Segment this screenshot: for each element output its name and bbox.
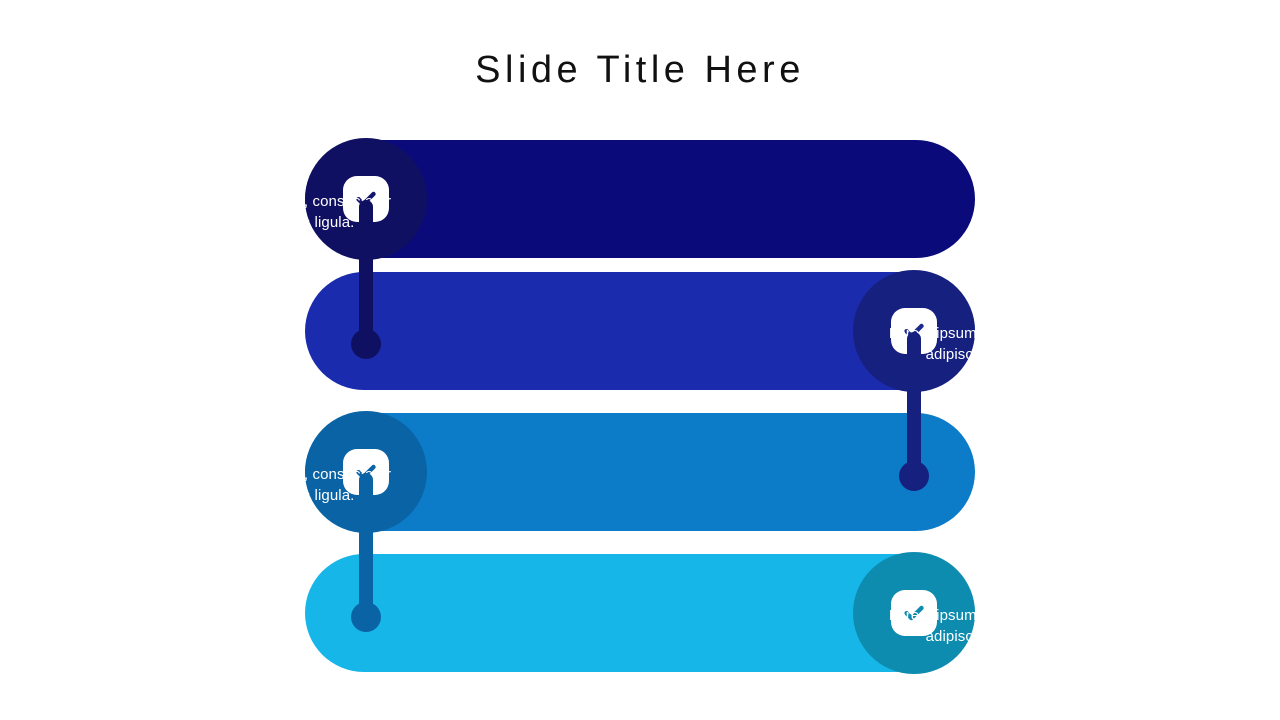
connector-1-stem <box>359 200 373 345</box>
row-4-desc-line-1: Lorem ipsum dolor amet, consectetur <box>720 605 1140 626</box>
row-2-title: Insert title here <box>720 297 1140 321</box>
connector-3 <box>359 473 373 618</box>
connector-2-knob <box>899 461 929 491</box>
connector-1-knob <box>351 329 381 359</box>
page-title: Slide Title Here <box>0 44 1280 96</box>
row-1-desc-line-1: Lorem ipsum dolor amet, consectetur <box>140 191 560 212</box>
row-3-desc-line-1: Lorem ipsum dolor amet, consectetur <box>140 464 560 485</box>
row-2-text: Insert title here Lorem ipsum dolor amet… <box>720 297 1140 365</box>
row-3-text: Insert title here Lorem ipsum dolor amet… <box>140 438 560 506</box>
row-4-desc-line-2: adipiscing elit roin cursus ligula. <box>720 626 1140 647</box>
infographic-rows: Insert title here Lorem ipsum dolor amet… <box>0 140 1280 670</box>
connector-2-stem <box>907 332 921 477</box>
connector-3-stem <box>359 473 373 618</box>
connector-3-knob <box>351 602 381 632</box>
row-4-text: Insert title here Lorem ipsum dolor amet… <box>720 579 1140 647</box>
row-3-title: Insert title here <box>140 438 560 462</box>
row-2-desc-line-2: adipiscing elit roin cursus ligula. <box>720 344 1140 365</box>
row-1-text: Insert title here Lorem ipsum dolor amet… <box>140 165 560 233</box>
connector-1 <box>359 200 373 345</box>
row-4-title: Insert title here <box>720 579 1140 603</box>
row-2-desc-line-1: Lorem ipsum dolor amet, consectetur <box>720 323 1140 344</box>
row-1-title: Insert title here <box>140 165 560 189</box>
row-1-desc-line-2: adipiscing elit roin cursus ligula. <box>140 212 560 233</box>
slide-canvas: Slide Title Here Insert title <box>0 0 1280 720</box>
row-3-desc-line-2: adipiscing elit roin cursus ligula. <box>140 485 560 506</box>
connector-2 <box>907 332 921 477</box>
